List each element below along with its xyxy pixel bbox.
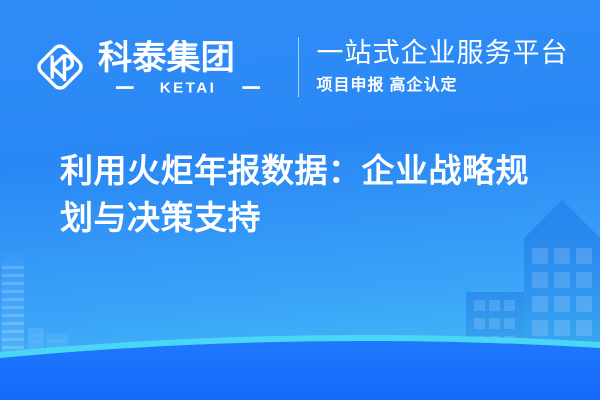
tagline-block: 一站式企业服务平台 项目申报 高企认定 [317,39,569,95]
left-tower [2,252,24,360]
kp-diamond-monogram-icon [32,39,88,95]
banner-header: 科泰集团 KETAI 一站式企业服务平台 项目申报 高企认定 [0,0,600,130]
header-divider [298,37,299,97]
promo-banner: 科泰集团 KETAI 一站式企业服务平台 项目申报 高企认定 利用火炬年报数据：… [0,0,600,400]
bottom-wave-shape [0,335,600,400]
tagline-sub: 项目申报 高企认定 [317,76,569,95]
svg-text:KETAI: KETAI [159,79,215,94]
company-name-cn: 科泰集团 [98,40,278,76]
page-title: 利用火炬年报数据：企业战略规划与决策支持 [60,148,550,242]
svg-text:科泰集团: 科泰集团 [98,40,235,76]
company-name-latin: KETAI [108,79,268,95]
company-wordmark: 科泰集团 KETAI [98,40,278,95]
brand-lockup: 科泰集团 KETAI 一站式企业服务平台 项目申报 高企认定 [32,37,569,97]
tagline-main: 一站式企业服务平台 [317,39,569,69]
